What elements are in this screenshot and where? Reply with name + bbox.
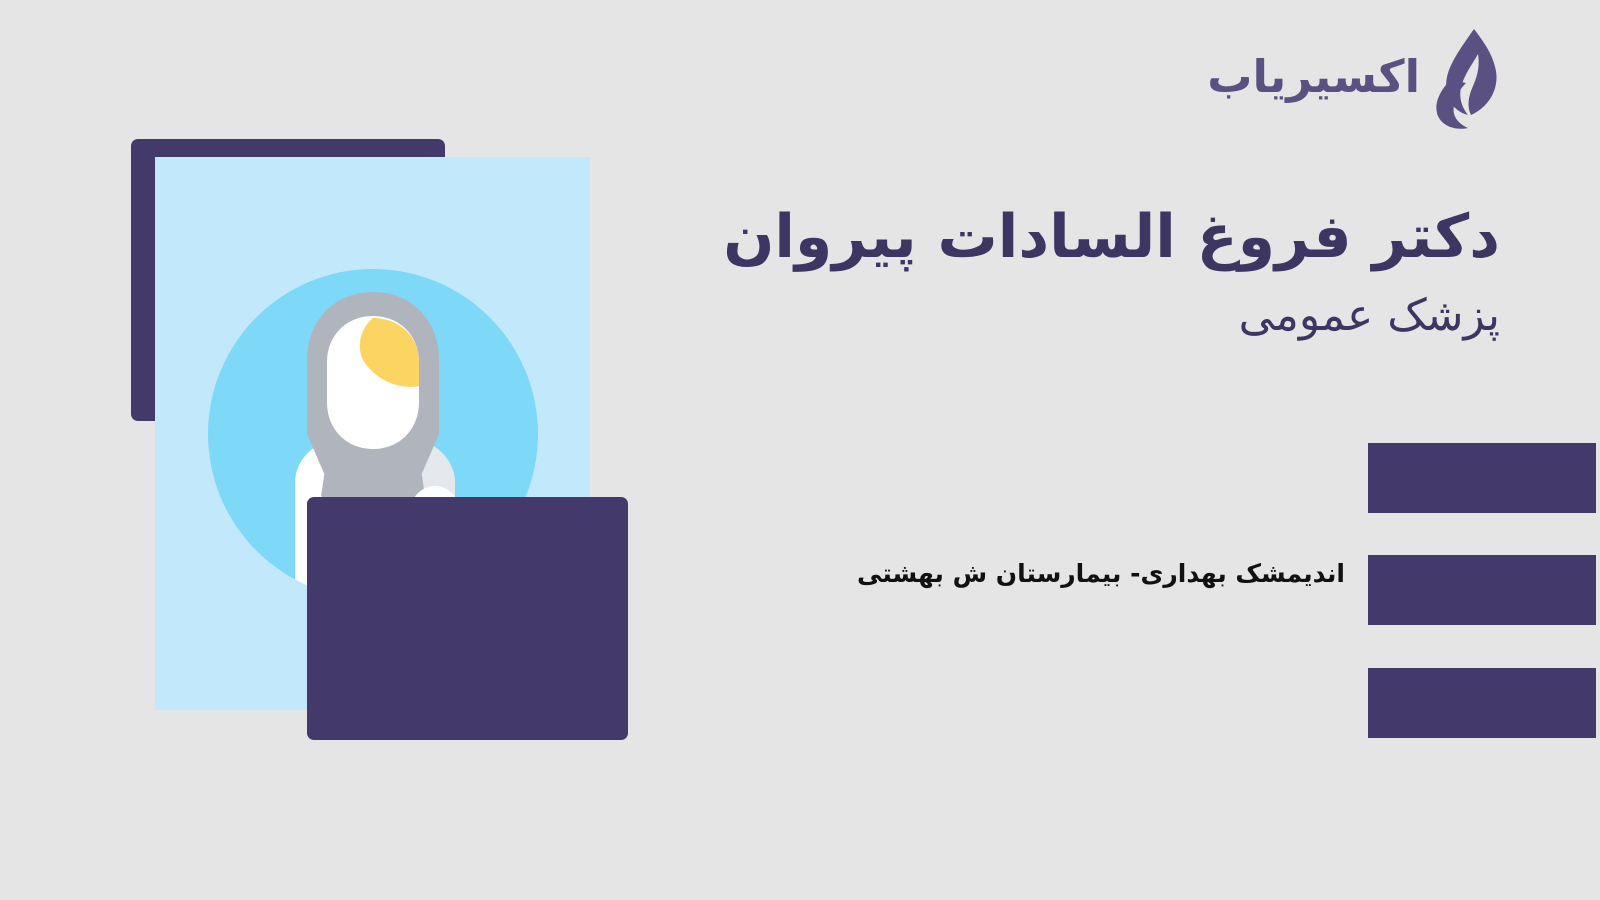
accent-bar-2 [1368, 555, 1596, 625]
doctor-address: اندیمشک بهداری- بیمارستان ش بهشتی [857, 558, 1345, 591]
brand-logo[interactable]: اکسیریاب [1207, 24, 1504, 134]
photo-frame-front [307, 497, 628, 740]
photo-composition [0, 0, 700, 900]
doctor-name: دکتر فروغ السادات پیروان [640, 200, 1500, 275]
doctor-profile-slide: اکسیریاب [0, 0, 1600, 900]
doctor-info: دکتر فروغ السادات پیروان پزشک عمومی [640, 200, 1500, 344]
brand-name: اکسیریاب [1207, 54, 1420, 105]
flame-drop-icon [1430, 27, 1504, 131]
doctor-specialty: پزشک عمومی [640, 287, 1500, 344]
accent-bar-3 [1368, 668, 1596, 738]
accent-bar-1 [1368, 443, 1596, 513]
